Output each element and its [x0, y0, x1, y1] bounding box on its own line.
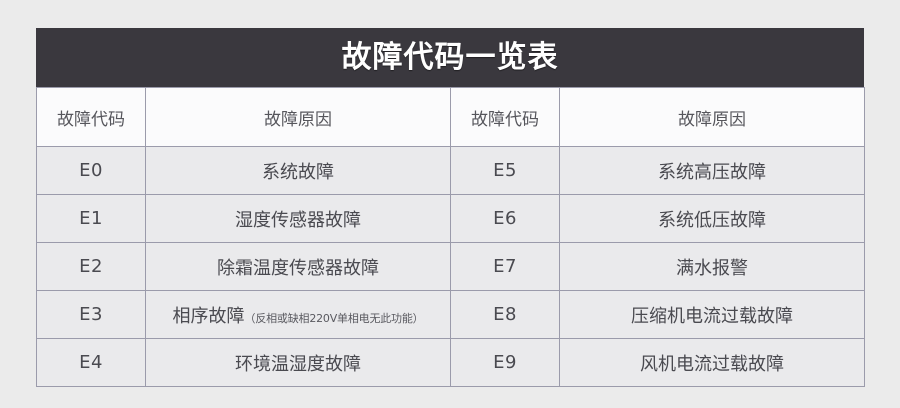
fault-reason-text: 相序故障 — [173, 306, 245, 327]
table-row: E0 系统故障 E5 系统高压故障 — [37, 147, 865, 195]
fault-reason-text: 系统故障 — [262, 162, 334, 183]
fault-reason-cell: 相序故障（反相或缺相220V单相电无此功能） — [146, 291, 451, 339]
fault-reason-cell: 系统低压故障 — [560, 195, 865, 243]
fault-reason-text: 风机电流过载故障 — [640, 354, 784, 375]
table-row: E4 环境温湿度故障 E9 风机电流过载故障 — [37, 339, 865, 387]
fault-code-cell: E8 — [451, 291, 560, 339]
fault-code-table: 故障代码 故障原因 故障代码 故障原因 E0 系统故障 E5 系统高压故障 — [36, 87, 865, 387]
fault-reason-cell: 压缩机电流过载故障 — [560, 291, 865, 339]
fault-code-cell: E3 — [37, 291, 146, 339]
column-header-reason-right: 故障原因 — [560, 88, 865, 147]
fault-code-cell: E0 — [37, 147, 146, 195]
fault-code-cell: E1 — [37, 195, 146, 243]
fault-code-table-container: 故障代码一览表 故障代码 故障原因 故障代码 故障原因 E0 — [36, 28, 864, 387]
fault-reason-note: （反相或缺相220V单相电无此功能） — [245, 312, 424, 325]
fault-code-cell: E5 — [451, 147, 560, 195]
fault-reason-cell: 系统高压故障 — [560, 147, 865, 195]
fault-code-cell: E4 — [37, 339, 146, 387]
fault-reason-text: 除霜温度传感器故障 — [217, 258, 379, 279]
fault-code-cell: E6 — [451, 195, 560, 243]
table-header-row: 故障代码 故障原因 故障代码 故障原因 — [37, 88, 865, 147]
fault-code-cell: E9 — [451, 339, 560, 387]
table-title-bar: 故障代码一览表 — [36, 28, 864, 87]
fault-code-cell: E2 — [37, 243, 146, 291]
table-row: E3 相序故障（反相或缺相220V单相电无此功能） E8 压缩机电流过载故障 — [37, 291, 865, 339]
column-header-code-left: 故障代码 — [37, 88, 146, 147]
fault-reason-text: 系统低压故障 — [658, 210, 766, 231]
fault-reason-cell: 环境温湿度故障 — [146, 339, 451, 387]
fault-code-cell: E7 — [451, 243, 560, 291]
page-root: 故障代码一览表 故障代码 故障原因 故障代码 故障原因 E0 — [0, 0, 900, 408]
fault-reason-cell: 系统故障 — [146, 147, 451, 195]
fault-reason-text: 满水报警 — [676, 258, 748, 279]
fault-reason-text: 湿度传感器故障 — [235, 210, 361, 231]
fault-reason-text: 压缩机电流过载故障 — [631, 306, 793, 327]
table-row: E1 湿度传感器故障 E6 系统低压故障 — [37, 195, 865, 243]
fault-reason-text: 环境温湿度故障 — [235, 354, 361, 375]
fault-reason-cell: 湿度传感器故障 — [146, 195, 451, 243]
fault-reason-cell: 风机电流过载故障 — [560, 339, 865, 387]
table-row: E2 除霜温度传感器故障 E7 满水报警 — [37, 243, 865, 291]
fault-reason-cell: 满水报警 — [560, 243, 865, 291]
column-header-code-right: 故障代码 — [451, 88, 560, 147]
column-header-reason-left: 故障原因 — [146, 88, 451, 147]
fault-reason-cell: 除霜温度传感器故障 — [146, 243, 451, 291]
fault-reason-text: 系统高压故障 — [658, 162, 766, 183]
page-title: 故障代码一览表 — [342, 43, 559, 73]
